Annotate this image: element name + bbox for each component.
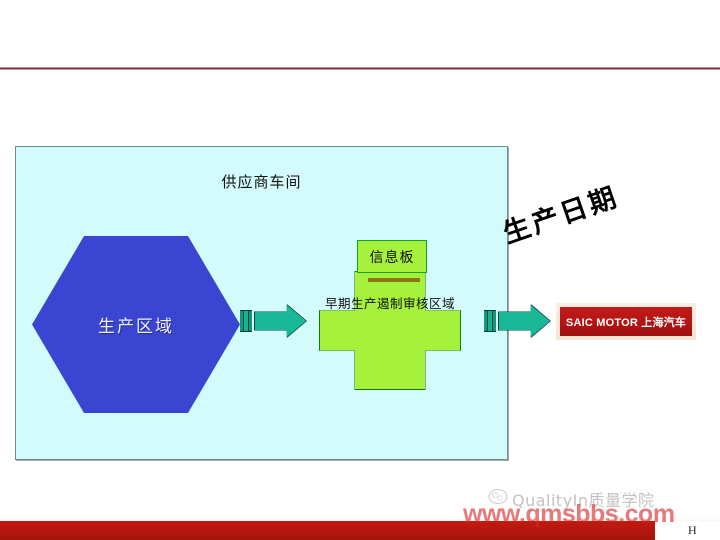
- customer-logo-label: SAIC MOTOR 上海汽车: [566, 314, 686, 330]
- workshop-title: 供应商车间: [16, 171, 507, 192]
- page-number: H: [688, 523, 697, 538]
- arrow-tail-stripes: [240, 310, 252, 332]
- information-board-label: 信息板: [370, 247, 415, 267]
- information-board-box: 信息板: [357, 240, 427, 273]
- arrow-body: [255, 305, 306, 337]
- watermark-url-text: www.qmsbbs.com: [463, 500, 675, 529]
- customer-logo-frame: SAIC MOTOR 上海汽车: [556, 303, 696, 340]
- production-date-annotation: 生产日期: [497, 175, 623, 251]
- customer-logo-plate: SAIC MOTOR 上海汽车: [560, 307, 692, 336]
- production-area-label: 生产区域: [98, 312, 174, 337]
- arrow-body: [499, 305, 550, 337]
- arrow-tail-stripes: [484, 310, 496, 332]
- top-divider-rule: [0, 67, 720, 70]
- arrow-production-to-containment-icon: [240, 304, 307, 338]
- slide-canvas: 供应商车间 生产区域 早期生产遏制审核区域 信息板 SAIC MOTOR 上海汽…: [0, 0, 720, 540]
- board-accent-bar: [368, 278, 420, 282]
- arrow-containment-to-customer-icon: [484, 304, 551, 338]
- containment-area-label: 早期生产遏制审核区域: [318, 294, 462, 313]
